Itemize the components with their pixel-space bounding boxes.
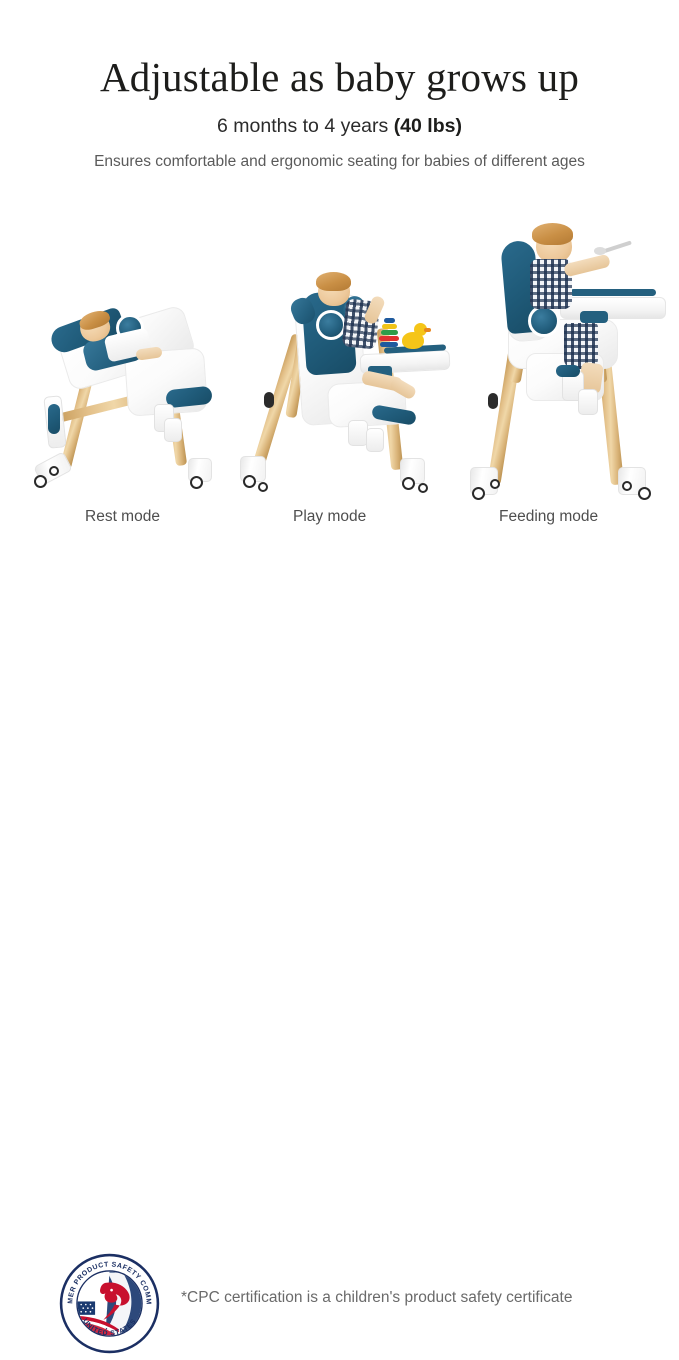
description-text: Ensures comfortable and ergonomic seatin…	[0, 138, 679, 171]
mode-label-rest: Rest mode	[85, 508, 160, 526]
high-chair-reclined-icon	[18, 300, 233, 515]
cpc-footnote-text: *CPC certification is a children's produ…	[181, 1289, 572, 1307]
age-range-text: 6 months to 4 years	[217, 115, 394, 137]
high-chair-play-icon	[232, 270, 447, 515]
footer: CONSUMER PRODUCT SAFETY COMMISSION UNITE…	[0, 625, 679, 740]
chair-illustration-stage: Rest mode	[0, 205, 679, 515]
header: Adjustable as baby grows up 6 months to …	[0, 0, 679, 171]
mode-label-feeding: Feeding mode	[499, 508, 598, 526]
cpsc-seal-icon: CONSUMER PRODUCT SAFETY COMMISSION UNITE…	[58, 1252, 161, 1355]
weight-limit-text: (40 lbs)	[394, 115, 462, 137]
mode-label-play: Play mode	[293, 508, 366, 526]
high-chair-feeding-icon	[452, 223, 672, 515]
age-range-subtitle: 6 months to 4 years (40 lbs)	[0, 101, 679, 138]
page-title: Adjustable as baby grows up	[0, 0, 679, 101]
